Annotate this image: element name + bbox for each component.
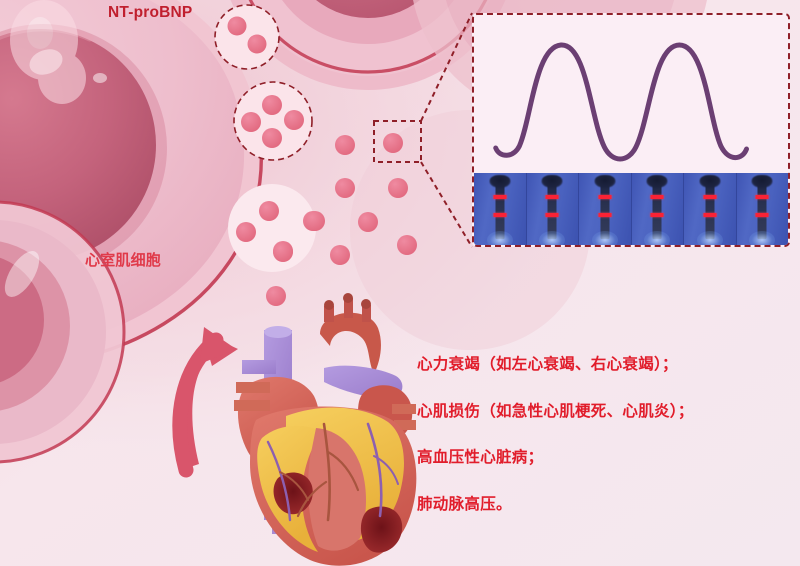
signal-waveform-area bbox=[474, 15, 788, 177]
lateral-flow-test-strips bbox=[474, 173, 788, 245]
test-strip bbox=[737, 173, 789, 245]
cluster-four-molecules bbox=[234, 82, 312, 160]
condition-item: 心肌损伤（如急性心肌梗死、心肌炎）； bbox=[417, 404, 787, 420]
cluster-two-molecules bbox=[215, 5, 279, 69]
test-strip bbox=[632, 173, 685, 245]
condition-item: 肺动脉高压。 bbox=[417, 497, 787, 513]
test-strip bbox=[579, 173, 632, 245]
test-strip bbox=[527, 173, 580, 245]
condition-item: 心力衰竭（如左心衰竭、右心衰竭）； bbox=[417, 357, 787, 373]
magnified-assay-panel bbox=[472, 13, 790, 247]
cell-type-label: 心室肌细胞 bbox=[85, 249, 161, 270]
condition-list: 心力衰竭（如左心衰竭、右心衰竭）； 心肌损伤（如急性心肌梗死、心肌炎）； 高血压… bbox=[417, 357, 787, 512]
test-strip bbox=[474, 173, 527, 245]
condition-item: 高血压性心脏病； bbox=[417, 450, 787, 466]
test-strip bbox=[684, 173, 737, 245]
signal-waveform bbox=[474, 15, 788, 177]
biomarker-label: NT-proBNP bbox=[108, 4, 192, 22]
infographic-canvas: NT-proBNP 心室肌细胞 心力衰竭（如左心衰竭、右心衰竭）； 心肌损伤（如… bbox=[0, 0, 800, 566]
